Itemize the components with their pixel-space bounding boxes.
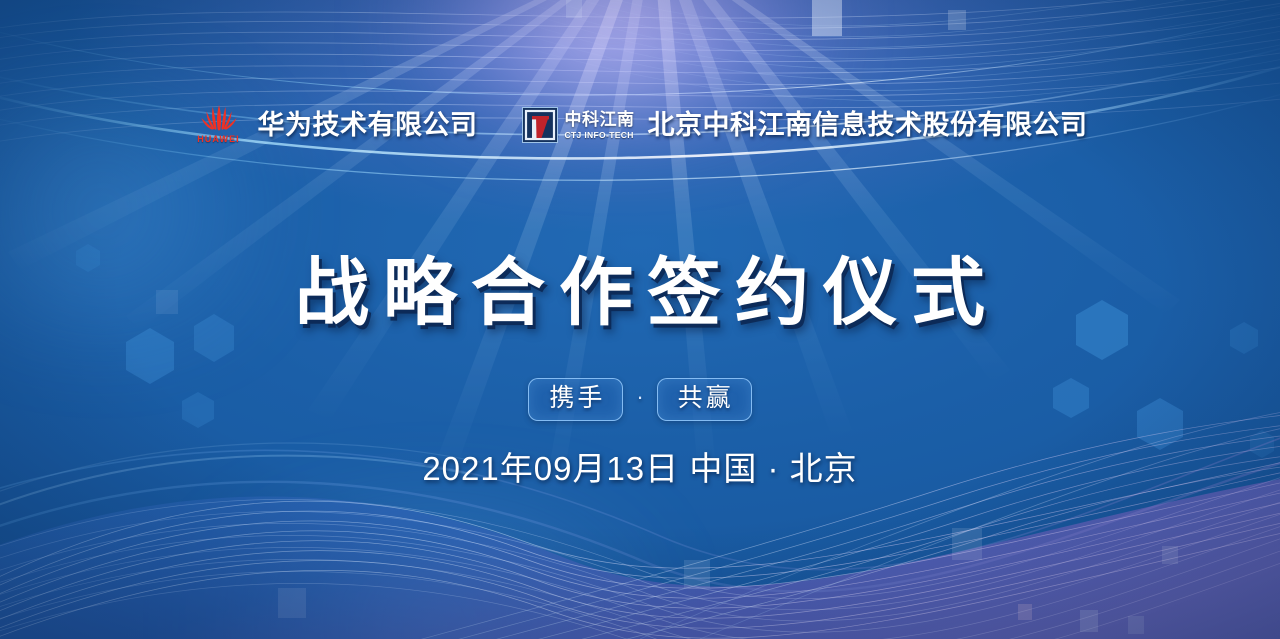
huawei-company-name: 华为技术有限公司 xyxy=(258,112,478,139)
page-title: 战略合作签约仪式 xyxy=(0,252,1280,333)
subtitle-pill-left: 携手 xyxy=(528,378,623,421)
ctj-square-icon xyxy=(522,107,558,143)
event-date-location: 2021年09月13日 中国 · 北京 xyxy=(0,449,1280,489)
partner-huawei: HUAWEI 华为技术有限公司 xyxy=(193,103,478,147)
partner-logo-bar: HUAWEI 华为技术有限公司 xyxy=(0,103,1280,147)
huawei-wordmark: HUAWEI xyxy=(197,135,240,144)
huawei-flower-icon: HUAWEI xyxy=(193,103,245,147)
ctj-logo-en: CTJ INFO-TECH xyxy=(565,131,635,140)
ctj-company-name: 北京中科江南信息技术股份有限公司 xyxy=(648,112,1088,139)
partner-ctj: 中科江南 CTJ INFO-TECH 北京中科江南信息技术股份有限公司 xyxy=(522,107,1088,143)
ctj-logo: 中科江南 CTJ INFO-TECH xyxy=(522,107,635,143)
subtitle-group: 携手 · 共赢 xyxy=(0,378,1280,421)
ctj-logo-cn: 中科江南 xyxy=(565,111,635,128)
subtitle-separator: · xyxy=(636,386,643,412)
signing-ceremony-poster: HUAWEI 华为技术有限公司 xyxy=(0,0,1280,639)
subtitle-pill-right: 共赢 xyxy=(657,378,752,421)
